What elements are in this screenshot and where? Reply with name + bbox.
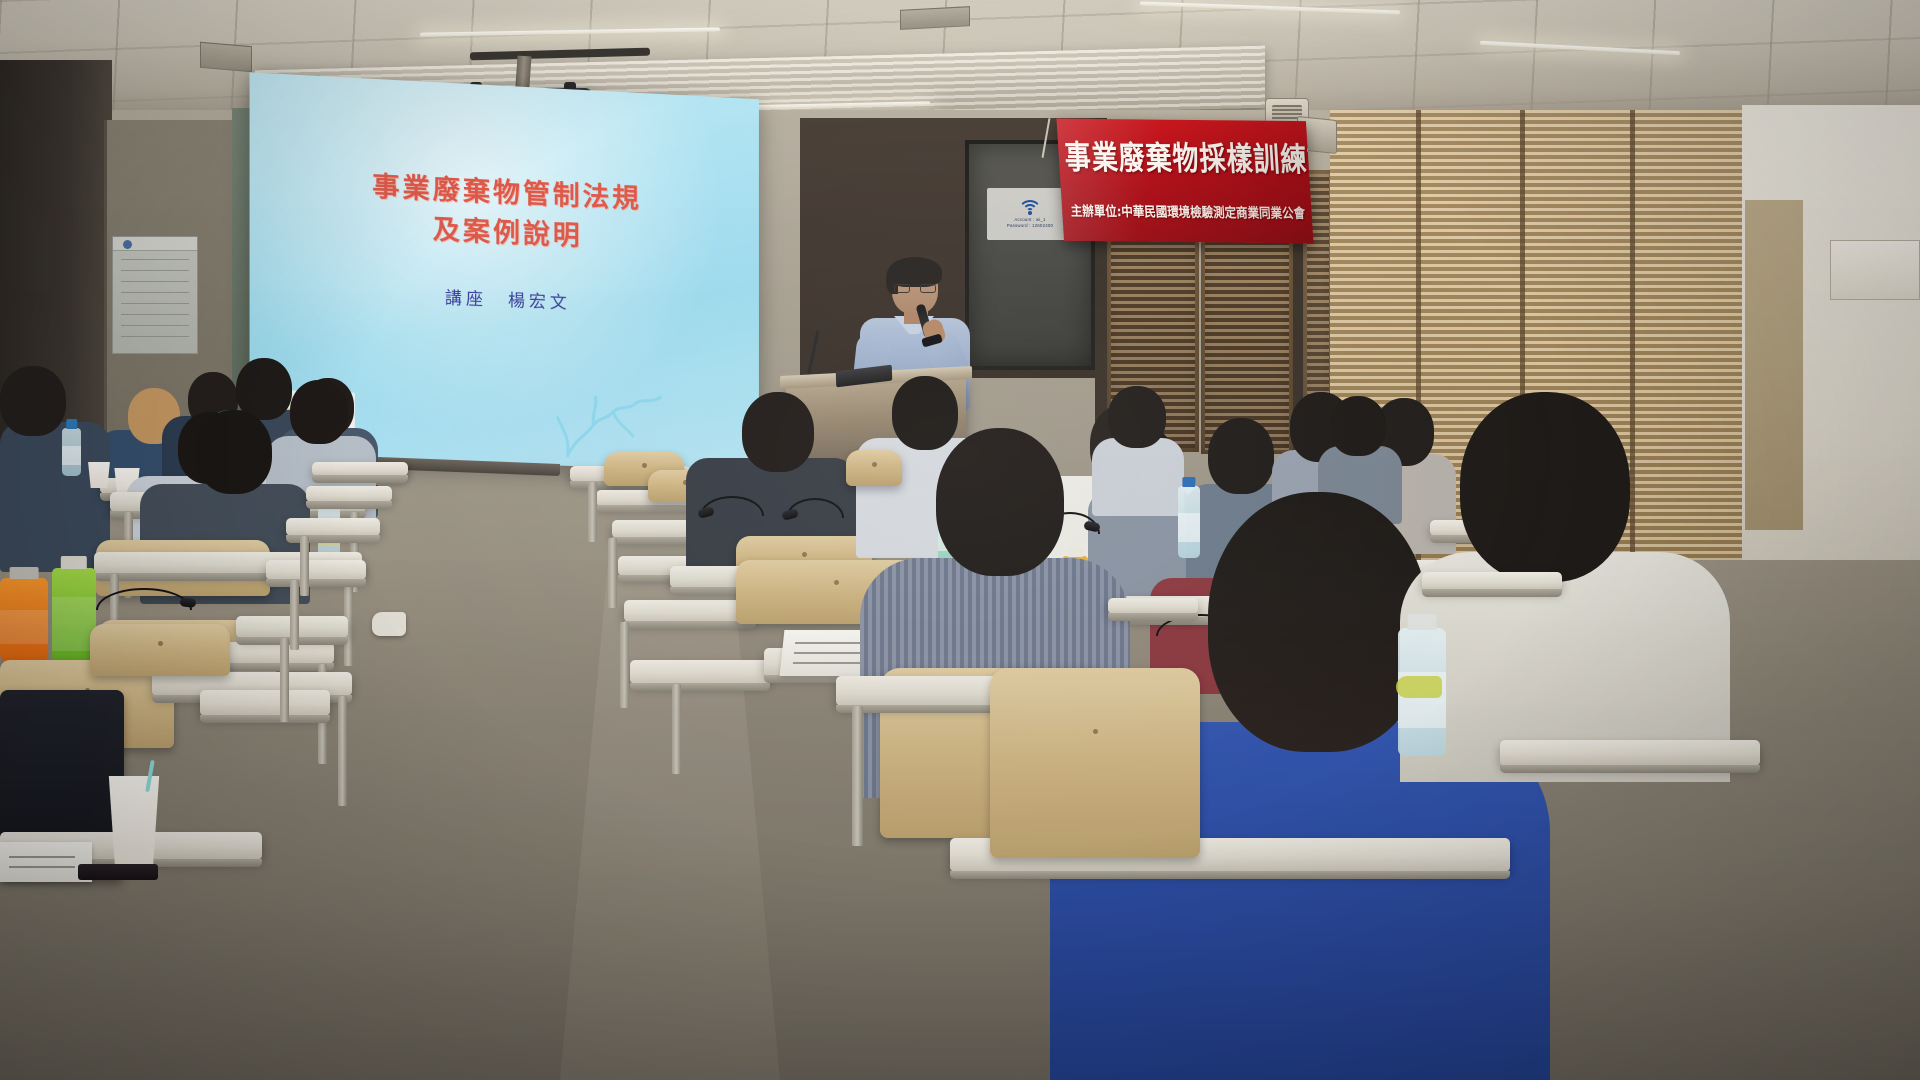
bottle-orange[interactable]: [0, 578, 48, 662]
attendee-head: [1460, 392, 1630, 582]
attendee-shoe-right: [1396, 676, 1442, 698]
attendee-head: [1208, 492, 1428, 752]
attendee-head: [1208, 418, 1274, 494]
notice-text-rows: [121, 259, 189, 345]
wall-notice-board: [112, 236, 198, 354]
desk-leg: [588, 482, 597, 542]
desk-leg: [338, 696, 347, 806]
desk-right-far-edge: [1422, 572, 1562, 590]
desk-right-edge: [1500, 740, 1760, 766]
desk-left-center-6: [200, 690, 330, 716]
right-wood-door[interactable]: [1745, 200, 1803, 530]
smartphone-on-desk[interactable]: [78, 864, 158, 880]
desk-left-center-4: [266, 560, 366, 580]
microphone-head: [180, 597, 197, 608]
desk-left-center-2: [306, 486, 392, 502]
desk-leg: [672, 684, 681, 774]
wifi-icon: [1017, 200, 1043, 215]
ceiling-vent-right: [900, 6, 970, 30]
desk-left-center-3: [286, 518, 380, 536]
desk-leg: [300, 536, 309, 596]
desk-leg: [620, 622, 629, 708]
notice-header: [113, 237, 197, 251]
attendee-torso: [0, 422, 110, 572]
slide-coral-decoration: [548, 387, 676, 461]
desk-leg: [290, 580, 299, 650]
desk-center-far-6: [630, 660, 770, 684]
attendee-head: [742, 392, 814, 472]
attendee-head: [1330, 396, 1386, 456]
banner-sheen: [1056, 119, 1313, 244]
desk-left-center-1: [312, 462, 408, 476]
bottle-clear-back[interactable]: [62, 428, 81, 476]
chair-foreground-left-2[interactable]: [90, 624, 230, 676]
right-wall-cabinet: [1830, 240, 1920, 300]
desk-leg: [608, 538, 617, 608]
attendee-head: [936, 428, 1064, 576]
event-banner: 事業廢棄物採樣訓練課程 主辦單位:中華民國環境檢驗測定商業同業公會: [1056, 119, 1313, 244]
chair-foreground-right[interactable]: [990, 668, 1200, 858]
attendee-head: [196, 410, 272, 494]
attendee-head: [0, 366, 66, 436]
attendee-shoe: [372, 612, 406, 636]
lecture-room-photo: EPSON Account : wi_1 Password : 12602400: [0, 0, 1920, 1080]
wifi-sign: Account : wi_1 Password : 12602400: [987, 188, 1073, 240]
desk-right-far-edge-2: [1108, 598, 1198, 614]
desk-leg: [852, 706, 863, 846]
desk-leg: [280, 638, 289, 722]
ceiling-vent-left: [200, 42, 252, 73]
presenter-glasses: [894, 284, 936, 293]
notice-logo-icon: [123, 240, 132, 249]
